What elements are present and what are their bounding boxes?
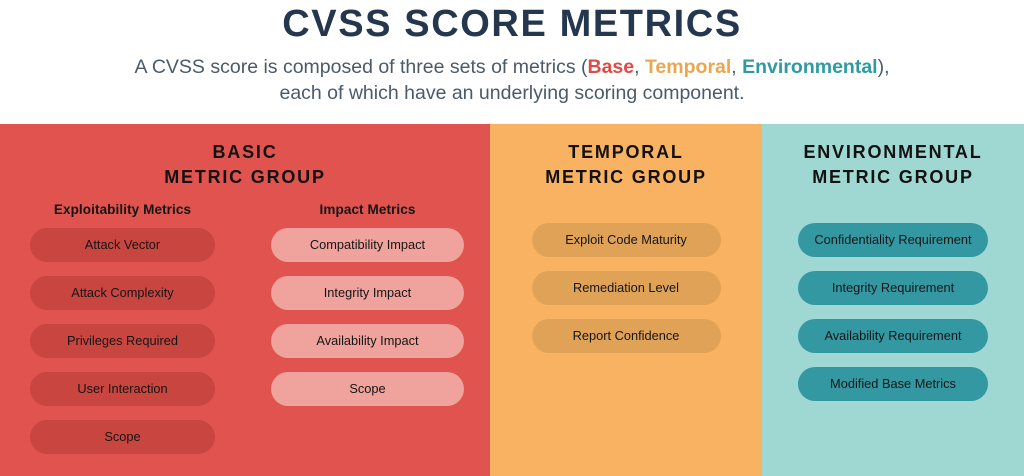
cvss-score-metrics-infographic: CVSS SCORE METRICS A CVSS score is compo… (0, 0, 1024, 476)
subtitle: A CVSS score is composed of three sets o… (0, 46, 1024, 106)
impact-metrics-heading: Impact Metrics (257, 202, 478, 217)
list-item[interactable]: Confidentiality Requirement (798, 223, 988, 257)
keyword-base: Base (588, 56, 635, 78)
list-item[interactable]: Integrity Impact (271, 276, 464, 310)
environmental-metrics-list: Confidentiality Requirement Integrity Re… (762, 190, 1024, 401)
metric-group-panels: BASIC METRIC GROUP Exploitability Metric… (0, 124, 1024, 476)
exploitability-metrics-list: Attack Vector Attack Complexity Privileg… (12, 228, 233, 454)
list-item[interactable]: Scope (30, 420, 215, 454)
temporal-metrics-list: Exploit Code Maturity Remediation Level … (490, 190, 762, 353)
list-item[interactable]: Exploit Code Maturity (532, 223, 721, 257)
environmental-group-title-line-2: METRIC GROUP (762, 165, 1024, 190)
temporal-group-title-line-2: METRIC GROUP (490, 165, 762, 190)
subtitle-line-2: each of which have an underlying scoring… (0, 80, 1024, 106)
list-item[interactable]: Availability Requirement (798, 319, 988, 353)
list-item[interactable]: Scope (271, 372, 464, 406)
page-title: CVSS SCORE METRICS (0, 0, 1024, 46)
list-item[interactable]: Availability Impact (271, 324, 464, 358)
list-item[interactable]: Attack Vector (30, 228, 215, 262)
column-impact-metrics: Impact Metrics Compatibility Impact Inte… (245, 202, 490, 468)
panel-temporal-metric-group: TEMPORAL METRIC GROUP Exploit Code Matur… (490, 124, 762, 476)
panel-basic-metric-group: BASIC METRIC GROUP Exploitability Metric… (0, 124, 490, 476)
infographic-header: CVSS SCORE METRICS A CVSS score is compo… (0, 0, 1024, 124)
keyword-environmental: Environmental (742, 56, 877, 78)
list-item[interactable]: Report Confidence (532, 319, 721, 353)
subtitle-text-suffix: ), (878, 56, 890, 78)
keyword-temporal: Temporal (645, 56, 731, 78)
list-item[interactable]: Privileges Required (30, 324, 215, 358)
list-item[interactable]: Integrity Requirement (798, 271, 988, 305)
list-item[interactable]: Attack Complexity (30, 276, 215, 310)
environmental-group-title-line-1: ENVIRONMENTAL (762, 140, 1024, 165)
subtitle-separator-1: , (634, 56, 645, 78)
subtitle-separator-2: , (731, 56, 742, 78)
column-exploitability-metrics: Exploitability Metrics Attack Vector Att… (0, 202, 245, 468)
list-item[interactable]: User Interaction (30, 372, 215, 406)
exploitability-metrics-heading: Exploitability Metrics (12, 202, 233, 217)
basic-columns: Exploitability Metrics Attack Vector Att… (0, 190, 490, 468)
list-item[interactable]: Modified Base Metrics (798, 367, 988, 401)
environmental-group-title: ENVIRONMENTAL METRIC GROUP (762, 124, 1024, 190)
basic-group-title-line-2: METRIC GROUP (0, 165, 490, 190)
subtitle-text-prefix: A CVSS score is composed of three sets o… (134, 56, 587, 78)
temporal-group-title: TEMPORAL METRIC GROUP (490, 124, 762, 190)
basic-group-title: BASIC METRIC GROUP (0, 124, 490, 190)
impact-metrics-list: Compatibility Impact Integrity Impact Av… (257, 228, 478, 406)
basic-group-title-line-1: BASIC (0, 140, 490, 165)
list-item[interactable]: Remediation Level (532, 271, 721, 305)
panel-environmental-metric-group: ENVIRONMENTAL METRIC GROUP Confidentiali… (762, 124, 1024, 476)
list-item[interactable]: Compatibility Impact (271, 228, 464, 262)
temporal-group-title-line-1: TEMPORAL (490, 140, 762, 165)
